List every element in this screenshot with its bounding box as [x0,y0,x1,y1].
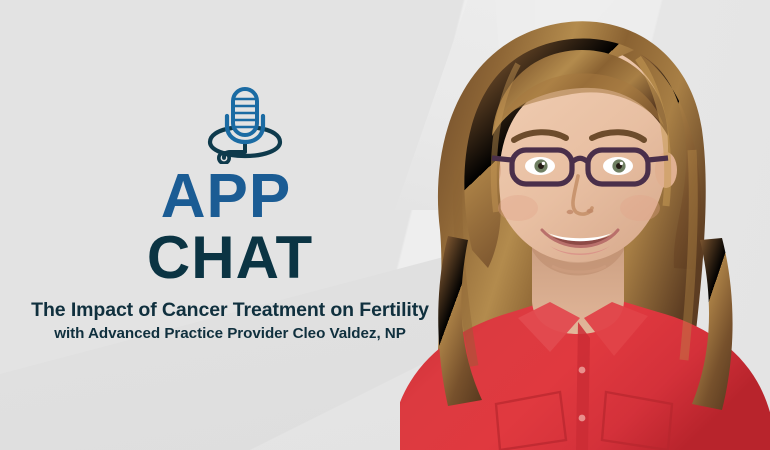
brand-name-chat: CHAT [0,229,460,286]
headshot-illustration [400,0,770,450]
episode-titles: The Impact of Cancer Treatment on Fertil… [0,298,460,344]
episode-title: The Impact of Cancer Treatment on Fertil… [0,298,460,322]
avatar [400,0,770,450]
brand-name-app: APP [0,168,460,227]
podcast-banner: APP CHAT The Impact of Cancer Treatment … [0,0,770,450]
microphone-stethoscope-icon [205,86,285,164]
episode-subtitle: with Advanced Practice Provider Cleo Val… [0,324,460,344]
brand-wordmark: APP CHAT [0,168,460,286]
